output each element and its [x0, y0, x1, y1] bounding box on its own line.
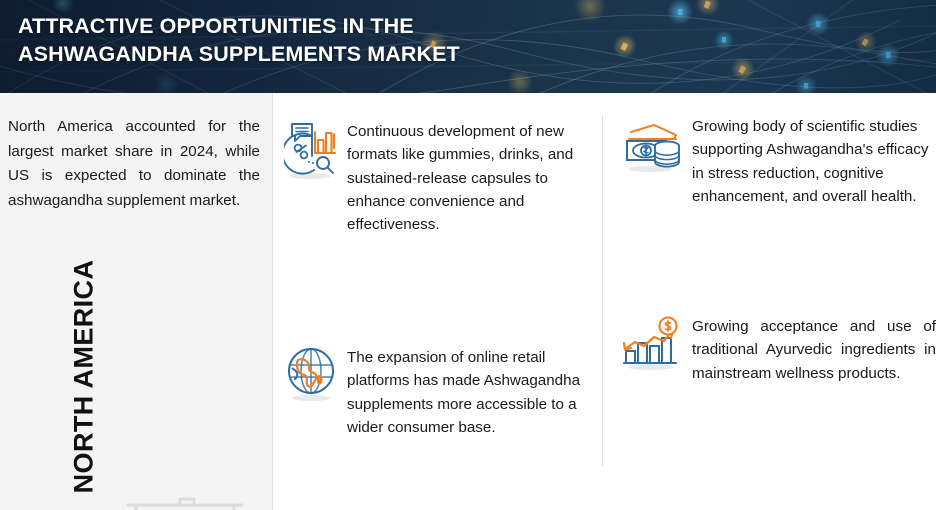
- column-divider: [602, 116, 603, 466]
- opportunity-text: The expansion of online retail platforms…: [347, 346, 602, 439]
- data-analytics-pie-chart-icon: [284, 120, 340, 180]
- money-cash-coins-icon: [620, 115, 682, 175]
- header-banner: ATTRACTIVE OPPORTUNITIES IN THE ASHWAGAN…: [0, 0, 936, 93]
- panel-divider: [272, 93, 273, 510]
- opportunity-text: Growing body of scientific studies suppo…: [692, 115, 936, 208]
- region-label-north-america: NORTH AMERICA: [69, 247, 100, 507]
- opportunity-text: Continuous development of new formats li…: [347, 120, 602, 236]
- globe-icon: [284, 346, 340, 404]
- presentation-board-analytics-icon: [122, 497, 262, 510]
- opportunity-item: The expansion of online retail platforms…: [284, 346, 602, 439]
- opportunity-item: Continuous development of new formats li…: [284, 120, 602, 236]
- opportunity-item: Growing body of scientific studies suppo…: [620, 115, 936, 208]
- region-description: North America accounted for the largest …: [8, 115, 260, 214]
- left-region-panel: North America accounted for the largest …: [0, 93, 272, 510]
- column-middle: Continuous development of new formats li…: [276, 93, 602, 510]
- growth-bar-chart-dollar-icon: [620, 315, 682, 375]
- page-title: ATTRACTIVE OPPORTUNITIES IN THE ASHWAGAN…: [18, 12, 460, 69]
- opportunity-text: Growing acceptance and use of traditiona…: [692, 315, 936, 385]
- opportunity-item: Growing acceptance and use of traditiona…: [620, 315, 936, 385]
- column-right: Growing body of scientific studies suppo…: [607, 93, 936, 510]
